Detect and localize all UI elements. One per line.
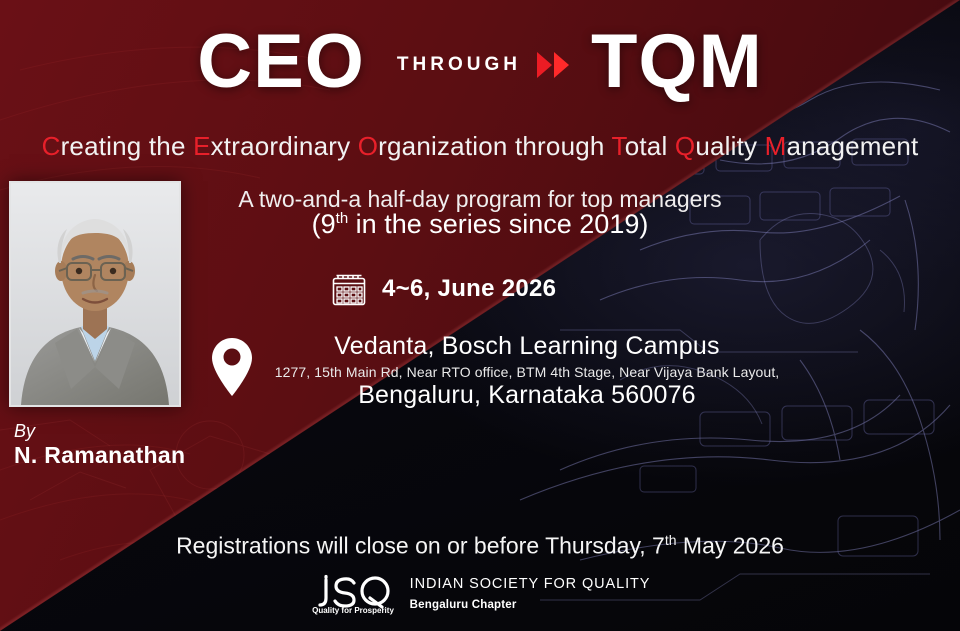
- subtitle-segment-0: C: [42, 131, 61, 161]
- event-date-text: 4~6, June 2026: [382, 275, 556, 303]
- registration-suffix: May 2026: [677, 533, 784, 559]
- series-suffix: in the series since 2019): [348, 209, 648, 239]
- subtitle-segment-5: rganization through: [378, 131, 611, 161]
- series-ordinal-suffix: th: [336, 210, 349, 227]
- subtitle-segment-9: uality: [695, 131, 764, 161]
- event-date-row: 4~6, June 2026: [330, 270, 556, 308]
- subtitle-segment-2: E: [193, 131, 211, 161]
- location-pin-icon: [208, 336, 256, 398]
- poster-subtitle: Creating the Extraordinary Organization …: [0, 131, 960, 162]
- subtitle-segment-7: otal: [625, 131, 675, 161]
- calendar-icon: [330, 270, 368, 308]
- subtitle-segment-1: reating the: [61, 131, 194, 161]
- speaker-by-label: By: [14, 421, 35, 442]
- poster-title: CEO THROUGH TQM: [0, 26, 960, 98]
- poster-root: CEO THROUGH TQM Creating the Extraordina…: [0, 0, 960, 631]
- footer: Quality for Prosperity INDIAN SOCIETY FO…: [0, 572, 960, 616]
- organization-name: INDIAN SOCIETY FOR QUALITY: [410, 576, 651, 592]
- subtitle-segment-8: Q: [675, 131, 695, 161]
- subtitle-segment-10: M: [765, 131, 787, 161]
- isq-logo-icon: Quality for Prosperity: [310, 572, 396, 616]
- title-ceo: CEO: [197, 26, 365, 98]
- chapter-name: Bengaluru Chapter: [410, 599, 517, 611]
- title-through-label: THROUGH: [397, 54, 521, 76]
- venue-block: Vedanta, Bosch Learning Campus 1277, 15t…: [262, 332, 792, 410]
- speaker-portrait: [9, 181, 181, 407]
- registration-deadline: Registrations will close on or before Th…: [0, 532, 960, 560]
- venue-address: 1277, 15th Main Rd, Near RTO office, BTM…: [262, 364, 792, 380]
- series-prefix: (9: [312, 209, 336, 239]
- subtitle-segment-3: xtraordinary: [211, 131, 358, 161]
- double-chevron-right-icon: [537, 52, 569, 78]
- subtitle-segment-6: T: [612, 131, 625, 161]
- venue-name: Vedanta, Bosch Learning Campus: [262, 332, 792, 361]
- registration-ordinal-suffix: th: [665, 532, 677, 548]
- subtitle-segment-4: O: [358, 131, 378, 161]
- subtitle-segment-11: anagement: [787, 131, 919, 161]
- speaker-name: N. Ramanathan: [14, 442, 185, 469]
- registration-prefix: Registrations will close on or before Th…: [176, 533, 665, 559]
- title-tqm: TQM: [591, 26, 763, 98]
- venue-city: Bengaluru, Karnataka 560076: [262, 381, 792, 410]
- isq-logo-tagline: Quality for Prosperity: [312, 606, 394, 615]
